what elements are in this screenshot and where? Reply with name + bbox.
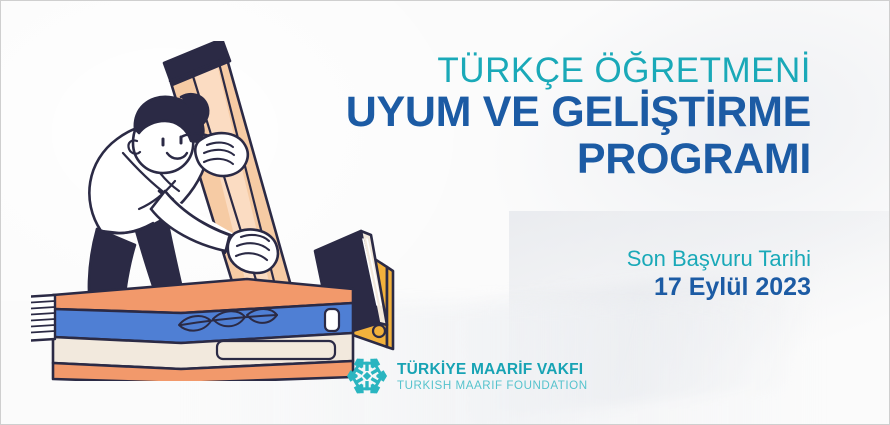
logo-name-english: TURKISH MAARIF FOUNDATION <box>397 380 588 392</box>
headline-line-1: TÜRKÇE ÖĞRETMENİ <box>301 53 811 88</box>
deadline-block: Son Başvuru Tarihi 17 Eylül 2023 <box>301 246 811 302</box>
logo-name-turkish: TÜRKİYE MAARİF VAKFI <box>397 362 588 378</box>
headline-line-3: PROGRAMI <box>301 137 811 183</box>
logo-wordmark: TÜRKİYE MAARİF VAKFI TURKISH MAARIF FOUN… <box>397 360 588 391</box>
maarif-snowflake-icon <box>346 355 388 397</box>
deadline-date: 17 Eylül 2023 <box>301 272 811 302</box>
poster-banner: TÜRKÇE ÖĞRETMENİ UYUM VE GELİŞTİRME PROG… <box>0 0 890 425</box>
organization-logo: TÜRKİYE MAARİF VAKFI TURKISH MAARIF FOUN… <box>346 355 588 397</box>
headline-line-2: UYUM VE GELİŞTİRME <box>301 90 811 136</box>
headline-block: TÜRKÇE ÖĞRETMENİ UYUM VE GELİŞTİRME PROG… <box>301 53 811 182</box>
deadline-label: Son Başvuru Tarihi <box>301 246 811 271</box>
